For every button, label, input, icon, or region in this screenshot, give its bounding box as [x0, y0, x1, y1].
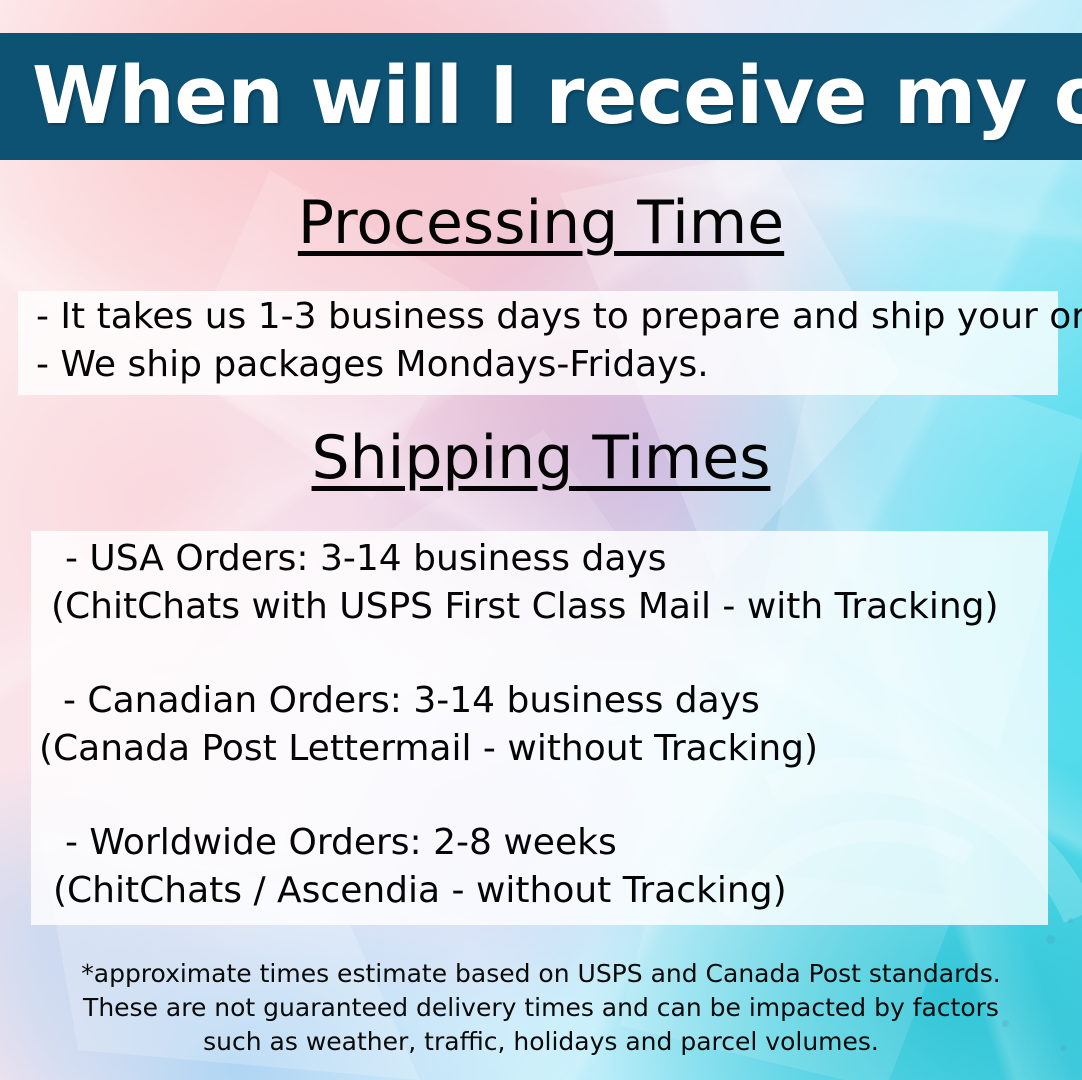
shipping-destination-line: - Canadian Orders: 3-14 business days [39, 677, 1048, 725]
footnote-line: These are not guaranteed delivery times … [0, 991, 1082, 1025]
shipping-policy-poster: When will I receive my order? Processing… [0, 0, 1082, 1080]
footnote-line: such as weather, traffic, holidays and p… [0, 1025, 1082, 1059]
shipping-carrier-line: (ChitChats / Ascendia - without Tracking… [39, 867, 1048, 915]
shipping-carrier-line: (Canada Post Lettermail - without Tracki… [39, 725, 1048, 773]
shipping-group-worldwide: - Worldwide Orders: 2-8 weeks (ChitChats… [31, 819, 1048, 915]
page-title: When will I receive my order? [0, 57, 1082, 136]
processing-line: - We ship packages Mondays-Fridays. [18, 341, 1058, 389]
shipping-destination-line: - Worldwide Orders: 2-8 weeks [39, 819, 1048, 867]
shipping-group-usa: - USA Orders: 3-14 business days (ChitCh… [31, 535, 1048, 631]
header-band: When will I receive my order? [0, 33, 1082, 160]
processing-line: - It takes us 1-3 business days to prepa… [18, 293, 1058, 341]
background-dot [1068, 918, 1073, 923]
shipping-group-canada: - Canadian Orders: 3-14 business days (C… [31, 677, 1048, 773]
section-heading-shipping-times: Shipping Times [0, 428, 1082, 488]
shipping-times-panel: - USA Orders: 3-14 business days (ChitCh… [31, 531, 1048, 925]
shipping-destination-line: - USA Orders: 3-14 business days [39, 535, 1048, 583]
processing-time-panel: - It takes us 1-3 business days to prepa… [18, 291, 1058, 395]
section-heading-processing-time: Processing Time [0, 193, 1082, 253]
footnote-line: *approximate times estimate based on USP… [0, 957, 1082, 991]
background-dot [1046, 935, 1055, 944]
footnote-disclaimer: *approximate times estimate based on USP… [0, 957, 1082, 1059]
shipping-carrier-line: (ChitChats with USPS First Class Mail - … [39, 583, 1048, 631]
